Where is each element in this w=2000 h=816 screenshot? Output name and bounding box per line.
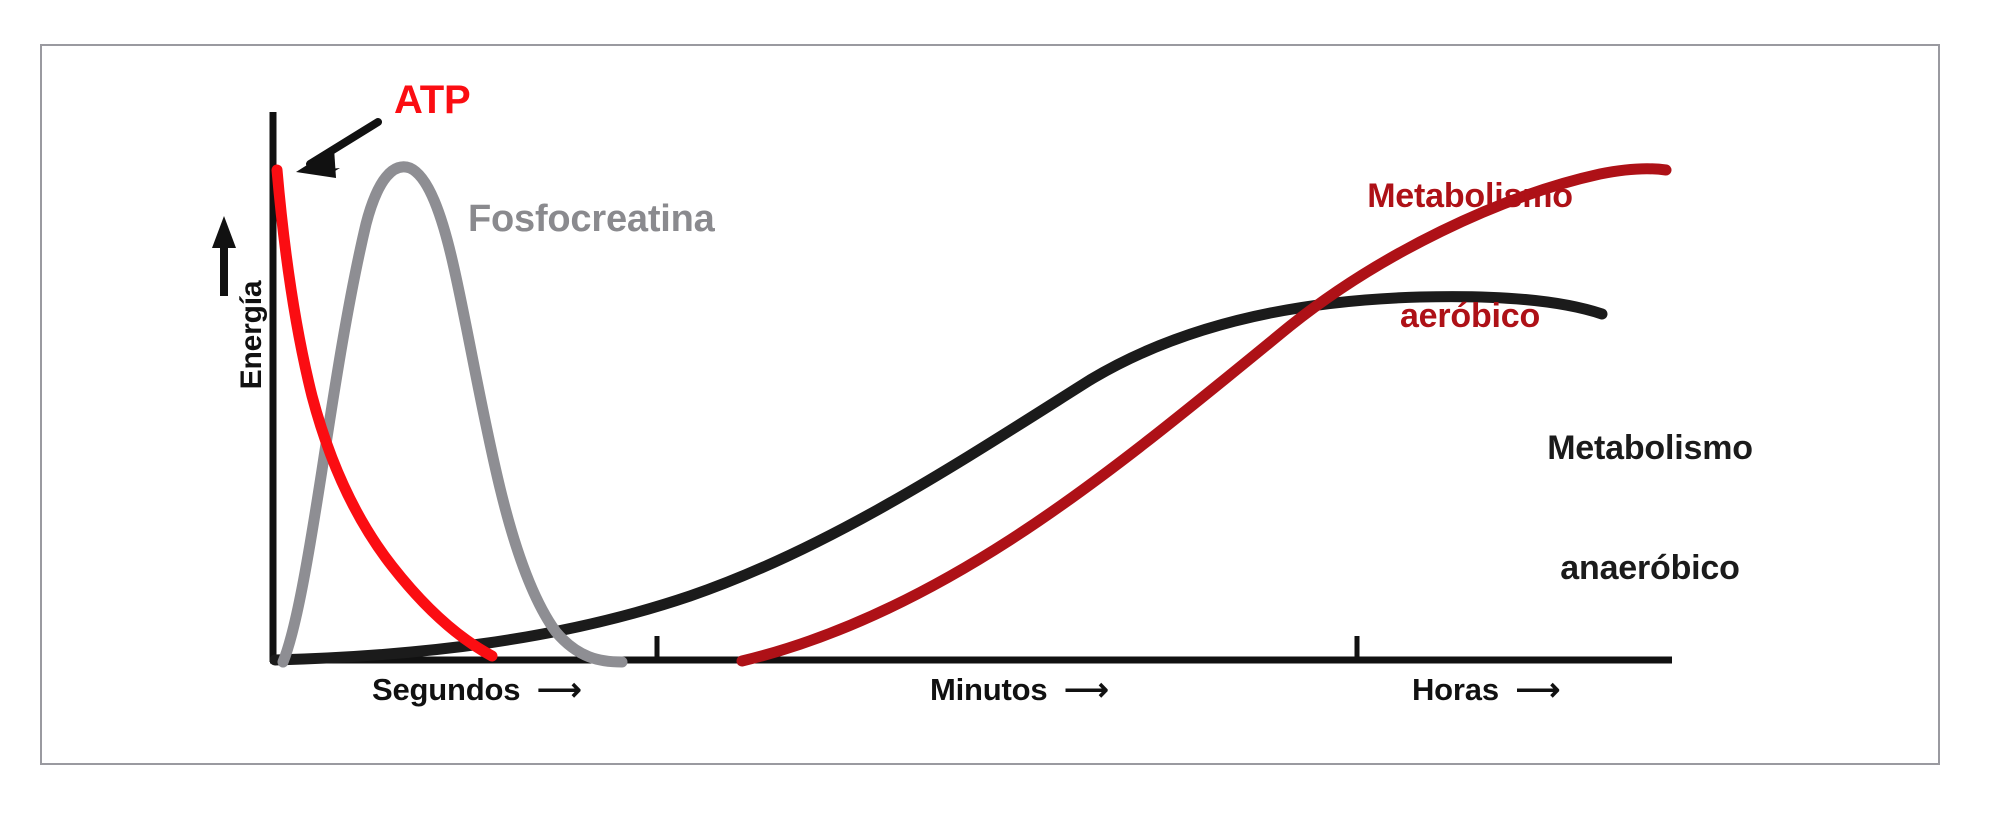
atp-arrow-icon bbox=[296, 122, 378, 178]
figure-page: ATP Fosfocreatina Metabolismo aeróbico M… bbox=[0, 0, 2000, 816]
aerobic-label-line2: aeróbico bbox=[1345, 296, 1595, 336]
y-axis-label-energy: Energía bbox=[235, 235, 269, 435]
aerobic-label-line1: Metabolismo bbox=[1345, 176, 1595, 216]
phosphocreatine-series-label: Fosfocreatina bbox=[468, 198, 715, 241]
anaerobic-label-line1: Metabolismo bbox=[1520, 428, 1780, 468]
anaerobic-label-line2: anaeróbico bbox=[1520, 548, 1780, 588]
y-axis-arrow-icon bbox=[212, 216, 236, 296]
series-atp-curve bbox=[277, 170, 492, 656]
atp-series-label: ATP bbox=[394, 78, 470, 123]
x-axis-label-hours: Horas ⟶ bbox=[1412, 672, 1560, 708]
x-axis-label-minutes: Minutos ⟶ bbox=[930, 672, 1108, 708]
anaerobic-series-label: Metabolismo anaeróbico bbox=[1520, 348, 1780, 668]
series-phosphocreatine-curve bbox=[283, 167, 622, 662]
x-axis-label-seconds: Segundos ⟶ bbox=[372, 672, 581, 708]
